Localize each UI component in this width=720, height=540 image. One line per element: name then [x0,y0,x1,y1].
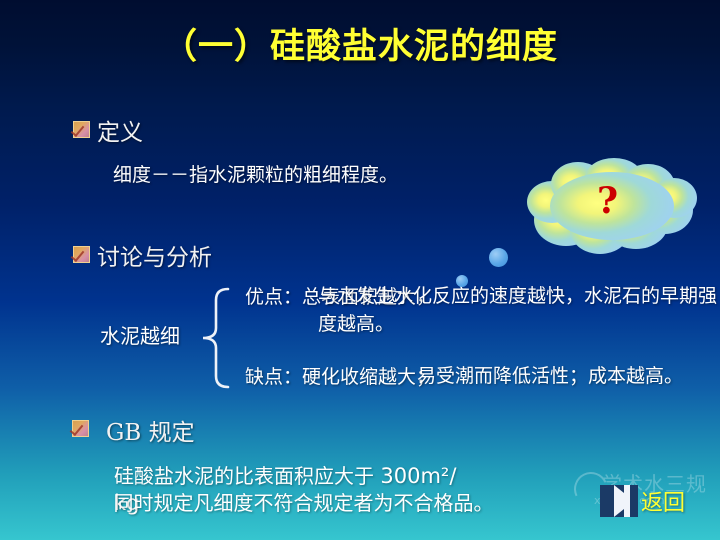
heading-discussion: 讨论与分析 [97,238,212,272]
heading-standard: GB 规定 [106,413,195,447]
standard-line-1-value: 300m²/ [380,464,456,488]
thought-bubble-dot-small [456,275,468,287]
branch-label-disadvantage: 缺点：硬化收缩越大； [245,362,435,389]
standard-line-1-prefix: 硅酸盐水泥的比表面积应大于 [114,464,380,488]
branch-body-disadvantage: 易受潮而降低活性；成本越高。 [417,362,720,390]
slide-title: （一）硅酸盐水泥的细度 [0,18,720,69]
thought-cloud: ? [522,158,702,258]
brace-label-cement-fineness: 水泥越细 [100,320,180,349]
thought-bubble-dot-large [489,248,508,267]
standard-line-2-text: 同时规定凡细度不符合规定者为不合格品。 [114,491,494,515]
presentation-slide: （一）硅酸盐水泥的细度 定义 细度－－指水泥颗粒的粗细程度。 讨论与分析 水泥越… [0,0,720,540]
left-arrow-icon[interactable] [600,485,638,517]
bullet-marker-icon-standard [72,420,89,437]
curly-brace-icon [198,286,232,390]
standard-line-2: kg同时规定凡细度不符合规定者为不合格品。 [114,487,494,516]
bullet-marker-icon-definition [73,121,90,138]
heading-definition: 定义 [97,113,143,147]
standard-line-1: 硅酸盐水泥的比表面积应大于 300m²/ [114,460,456,489]
question-mark-label: ? [597,180,618,222]
body-definition: 细度－－指水泥颗粒的粗细程度。 [113,162,398,189]
return-button[interactable]: 返回 [600,483,685,519]
bullet-marker-icon-discussion [73,246,90,263]
branch-body-advantage: 与水发生水化反应的速度越快，水泥石的早期强度越高。 [318,282,718,338]
return-button-label[interactable]: 返回 [641,485,685,517]
